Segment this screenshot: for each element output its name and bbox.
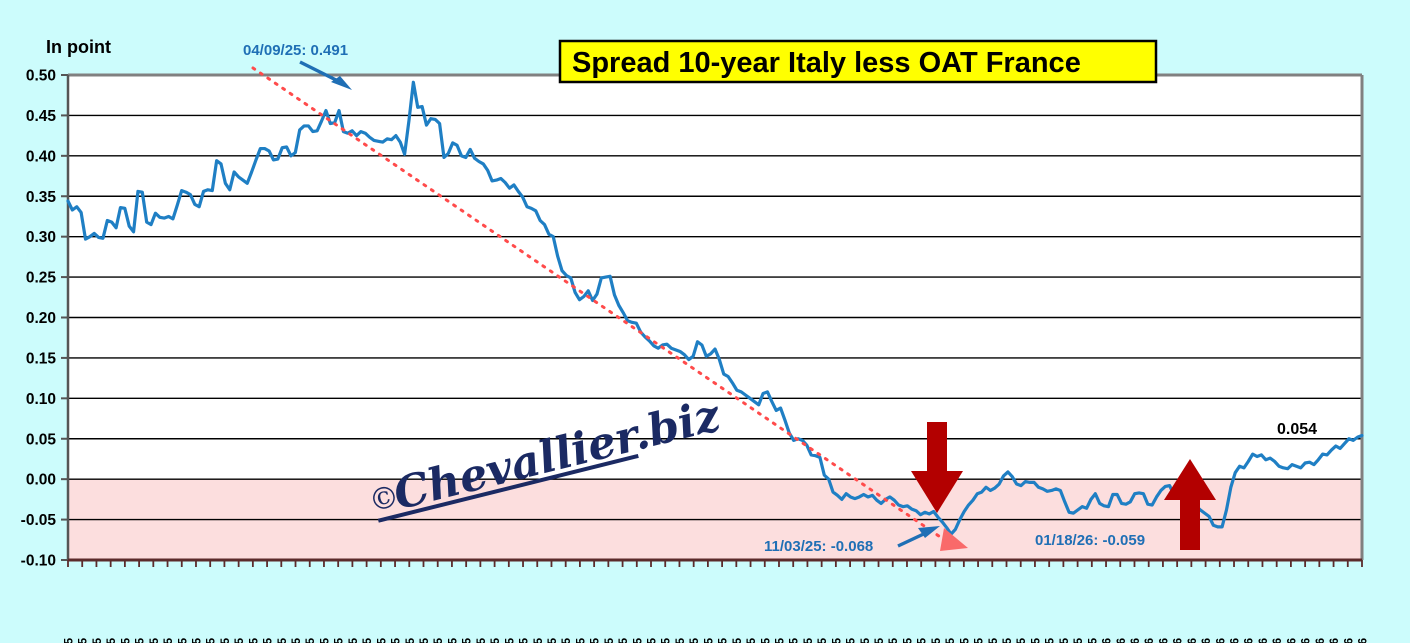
y-tick-label: 0.40 [26,148,56,165]
x-tick-label: 05/02/26 [1201,638,1213,643]
x-tick-label: 16/04/25 [362,637,374,643]
y-tick-label: 0.20 [26,310,56,327]
x-tick-label: 22/03/26 [1329,638,1341,643]
x-tick-label: 08/10/25 [860,637,872,643]
x-tick-label: 04/08/25 [675,637,687,643]
x-tick-label: 06/01/26 [1116,638,1128,643]
x-tick-label: 30/07/25 [661,637,673,643]
x-tick-label: 26/01/25 [135,637,147,643]
x-tick-label: 26/01/26 [1173,638,1185,643]
y-tick-label: 0.30 [26,229,56,246]
x-tick-label: 10/06/25 [519,637,531,643]
y-tick-label: 0.45 [26,108,57,125]
last-value-label: 0.054 [1277,421,1317,438]
x-tick-label: 25/06/25 [561,637,573,643]
x-tick-label: 17/03/26 [1315,638,1327,643]
y-axis-caption: In point [46,37,111,57]
x-tick-label: 22/12/25 [1073,637,1085,643]
x-tick-label: 05/06/25 [504,637,516,643]
y-tick-label: 0.50 [26,68,56,85]
x-tick-label: 21/01/26 [1158,638,1170,643]
x-tick-label: 06/04/25 [334,637,346,643]
x-tick-label: 08/09/25 [774,637,786,643]
y-tick-label: -0.10 [21,553,56,570]
x-tick-label: 15/02/26 [1230,638,1242,643]
y-tick-label: 0.25 [26,270,57,287]
x-tick-label: 07/03/26 [1286,638,1298,643]
x-tick-label: 01/04/26 [1358,638,1370,643]
x-tick-label: 29/08/25 [746,637,758,643]
x-tick-label: 31/05/25 [490,637,502,643]
x-tick-label: 11/05/25 [433,637,445,643]
y-tick-label: 0.10 [26,391,56,408]
x-tick-label: 28/09/25 [831,637,843,643]
x-tick-label: 17/11/25 [974,637,986,643]
x-tick-label: 05/07/25 [590,637,602,643]
x-tick-label: 17/03/25 [277,637,289,643]
x-tick-label: 26/04/25 [391,637,403,643]
x-tick-label: 06/01/25 [78,637,90,643]
chart-title-label: Spread 10-year Italy less OAT France [572,47,1081,79]
x-tick-label: 31/01/25 [149,637,161,643]
x-tick-label: 20/02/25 [206,637,218,643]
peak-annotation-label: 04/09/25: 0.491 [243,42,348,59]
x-tick-label: 27/03/25 [305,637,317,643]
x-tick-label: 18/09/25 [803,637,815,643]
x-tick-label: 18/10/25 [888,637,900,643]
x-tick-label: 03/10/25 [846,637,858,643]
x-tick-label: 13/10/25 [874,637,886,643]
x-tick-label: 15/06/25 [533,637,545,643]
x-tick-label: 11/01/26 [1130,638,1142,643]
x-tick-label: 12/03/26 [1301,638,1313,643]
spread-chart: 0.500.450.400.350.300.250.200.150.100.05… [0,0,1410,643]
x-tick-label: 10/02/25 [177,637,189,643]
y-tick-label: 0.00 [26,472,56,489]
x-tick-label: 24/08/25 [732,637,744,643]
x-tick-label: 03/09/25 [760,637,772,643]
x-tick-label: 02/12/25 [1016,637,1028,643]
x-tick-label: 02/03/26 [1272,638,1284,643]
trough-2025-label: 11/03/25: -0.068 [764,538,873,555]
x-tick-label: 21/01/25 [120,637,132,643]
x-tick-label: 07/12/25 [1030,637,1042,643]
x-tick-label: 14/08/25 [703,637,715,643]
x-tick-label: 01/01/26 [1102,638,1114,643]
chart-container: 0.500.450.400.350.300.250.200.150.100.05… [0,0,1410,643]
x-tick-label: 25/02/26 [1258,638,1270,643]
x-tick-label: 20/02/26 [1244,638,1256,643]
x-tick-label: 12/03/25 [263,637,275,643]
x-tick-label: 15/02/25 [191,637,203,643]
x-tick-label: 17/12/25 [1059,637,1071,643]
x-tick-label: 01/01/25 [64,637,76,643]
x-tick-label: 10/07/25 [604,637,616,643]
x-tick-label: 16/01/26 [1144,638,1156,643]
x-tick-label: 19/08/25 [718,637,730,643]
x-tick-label: 05/02/25 [163,637,175,643]
x-tick-label: 22/03/25 [291,637,303,643]
x-tick-label: 07/03/25 [248,637,260,643]
x-tick-label: 21/04/25 [376,637,388,643]
x-tick-label: 11/04/25 [348,637,360,643]
x-tick-label: 16/05/25 [447,637,459,643]
x-tick-label: 23/10/25 [902,637,914,643]
x-tick-label: 12/12/25 [1045,637,1057,643]
x-tick-label: 16/01/25 [106,637,118,643]
x-tick-label: 30/06/25 [575,637,587,643]
x-tick-label: 20/06/25 [547,637,559,643]
y-tick-label: 0.05 [26,431,57,448]
x-tick-label: 21/05/25 [462,637,474,643]
y-tick-label: -0.05 [21,512,57,529]
x-tick-label: 10/02/26 [1215,638,1227,643]
x-tick-label: 02/03/25 [234,637,246,643]
x-tick-label: 27/03/26 [1343,638,1355,643]
x-tick-label: 31/01/26 [1187,638,1199,643]
x-tick-label: 13/09/25 [789,637,801,643]
x-tick-label: 09/08/25 [689,637,701,643]
y-tick-label: 0.15 [26,350,57,367]
x-tick-label: 28/10/25 [917,637,929,643]
x-tick-label: 15/07/25 [618,637,630,643]
x-tick-label: 02/11/25 [931,637,943,643]
trough-2026-label: 01/18/26: -0.059 [1035,532,1145,549]
x-tick-label: 23/09/25 [817,637,829,643]
x-tick-label: 25/02/25 [220,637,232,643]
x-tick-label: 01/04/25 [319,637,331,643]
x-tick-label: 01/05/25 [405,637,417,643]
x-tick-label: 25/07/25 [647,637,659,643]
trough-2026-annotation: 01/18/26: -0.059 [1035,532,1145,549]
x-tick-label: 27/11/25 [1002,637,1014,643]
x-tick-label: 22/11/25 [988,637,1000,643]
x-tick-label: 26/05/25 [476,637,488,643]
x-tick-label: 11/01/25 [92,637,104,643]
x-tick-label: 12/11/25 [959,637,971,643]
y-tick-label: 0.35 [26,189,57,206]
x-tick-label: 27/12/25 [1087,637,1099,643]
x-tick-label: 07/11/25 [945,637,957,643]
x-tick-label: 20/07/25 [632,637,644,643]
chart-title: Spread 10-year Italy less OAT France [560,41,1156,82]
x-tick-label: 06/05/25 [419,637,431,643]
